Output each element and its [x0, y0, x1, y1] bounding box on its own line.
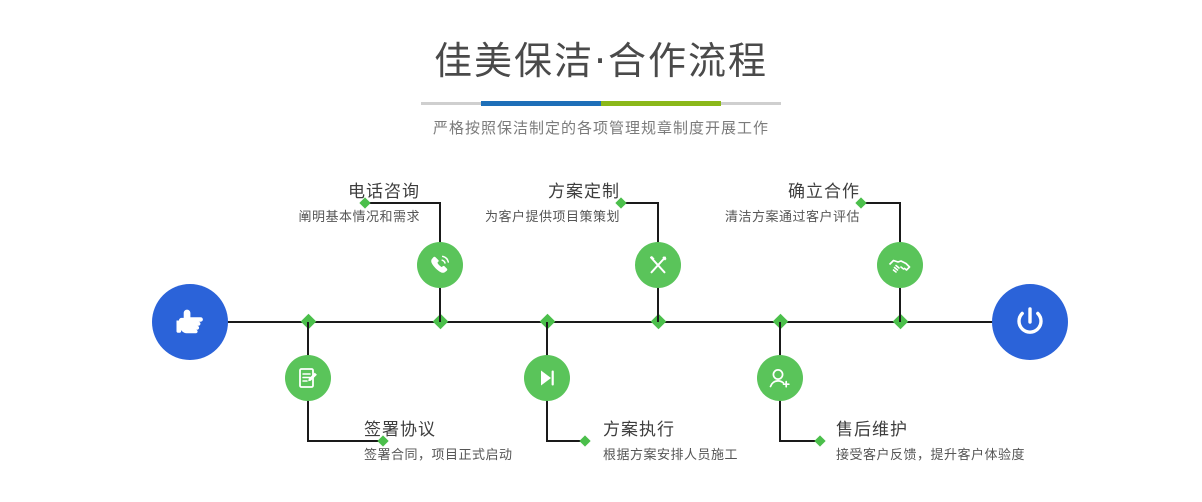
cooperation-flow-infographic: 佳美保洁·合作流程 严格按照保洁制定的各项管理规章制度开展工作	[0, 0, 1202, 502]
flow-timeline: 电话咨询 阐明基本情况和需求	[0, 160, 1202, 502]
handshake-icon	[887, 252, 913, 278]
step-description: 清洁方案通过客户评估	[570, 211, 860, 224]
phone-call-icon	[427, 252, 453, 278]
flow-start-endpoint	[152, 284, 228, 360]
power-icon	[1009, 301, 1051, 343]
pencil-design-icon	[645, 252, 671, 278]
step-icon-badge[interactable]	[877, 242, 923, 288]
step-icon-badge[interactable]	[417, 242, 463, 288]
step-title: 确立合作	[570, 184, 860, 201]
play-execute-icon	[534, 365, 560, 391]
page-subtitle: 严格按照保洁制定的各项管理规章制度开展工作	[0, 121, 1202, 136]
headset-support-icon	[767, 365, 793, 391]
step-icon-badge[interactable]	[285, 355, 331, 401]
page-title: 佳美保洁·合作流程	[0, 42, 1202, 80]
header: 佳美保洁·合作流程 严格按照保洁制定的各项管理规章制度开展工作	[0, 0, 1202, 136]
divider-green-segment	[601, 101, 721, 106]
step-label: 售后维护 接受客户反馈，提升客户体验度	[824, 422, 1164, 462]
step-icon-badge[interactable]	[635, 242, 681, 288]
title-divider	[421, 102, 781, 105]
step-icon-badge[interactable]	[757, 355, 803, 401]
divider-blue-segment	[481, 101, 601, 106]
step-icon-badge[interactable]	[524, 355, 570, 401]
step-label: 确立合作 清洁方案通过客户评估	[570, 184, 860, 224]
step-title: 售后维护	[836, 422, 1164, 439]
document-edit-icon	[295, 365, 321, 391]
flow-end-endpoint	[992, 284, 1068, 360]
step-description: 接受客户反馈，提升客户体验度	[836, 449, 1164, 462]
pointing-hand-icon	[170, 302, 210, 342]
